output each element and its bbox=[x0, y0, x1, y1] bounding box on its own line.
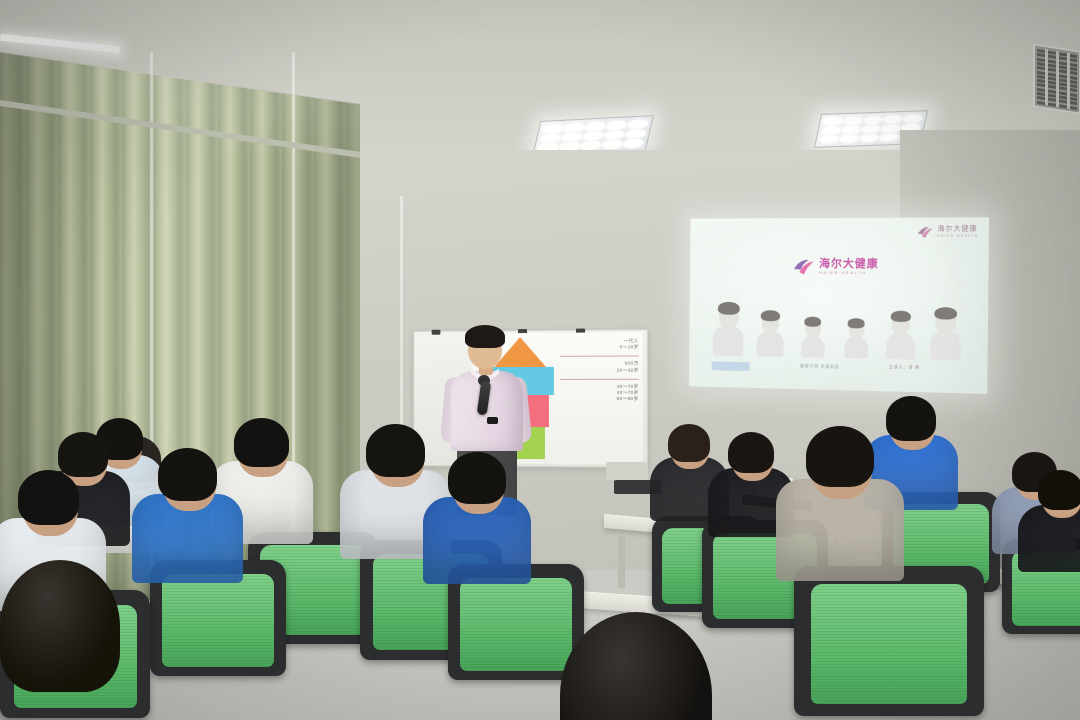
slide-corner-logo-text: 海尔大健康 bbox=[937, 226, 978, 234]
audience-hair bbox=[806, 426, 874, 487]
chair-mesh-back bbox=[811, 584, 967, 704]
slide-family-senior-man bbox=[928, 309, 963, 361]
audience-hair bbox=[1038, 470, 1080, 510]
audience-hair bbox=[158, 448, 217, 501]
slide-family-photo bbox=[712, 283, 964, 360]
audience-hair bbox=[0, 560, 120, 692]
slide-center-logo-text: 海尔大健康 bbox=[819, 258, 879, 270]
poster-label-column: 一代人 0～18岁 900万 25～39岁 40～70岁 40～70岁 60～8… bbox=[560, 338, 639, 406]
audience-far-right bbox=[806, 426, 923, 585]
brand-bird-icon bbox=[793, 258, 815, 276]
slide-family-adult-man bbox=[712, 304, 745, 356]
slide-corner-logo: 海尔大健康 HAIER HEALTH bbox=[917, 226, 979, 239]
slide-corner-logo-subtext: HAIER HEALTH bbox=[937, 234, 978, 239]
strip-light bbox=[0, 34, 120, 54]
poster-row: 40～70岁 40～70岁 60～80岁 bbox=[560, 384, 639, 403]
audience-foreground-head bbox=[1038, 470, 1080, 575]
poster-divider bbox=[560, 356, 639, 357]
air-conditioning-vent-icon bbox=[1033, 43, 1080, 115]
poster-divider bbox=[560, 379, 639, 380]
audience-hair bbox=[668, 424, 710, 462]
mesh-back-office-chair[interactable] bbox=[794, 566, 984, 716]
audience-hair bbox=[366, 424, 425, 477]
poster-row: 900万 25～39岁 bbox=[560, 361, 639, 380]
poster-row: 一代人 0～18岁 bbox=[560, 338, 639, 357]
slide-caption-right: 主讲人：讲 师 bbox=[871, 364, 938, 371]
poster-row-line2: 25～39岁 bbox=[560, 367, 639, 374]
slide-family-child-boy bbox=[796, 319, 830, 358]
wall-corner-edge bbox=[400, 196, 403, 456]
poster-row-line3: 60～80岁 bbox=[560, 396, 639, 402]
poster-row-line2: 0～18岁 bbox=[560, 345, 639, 352]
slide-footer-button bbox=[712, 361, 750, 371]
presenter-hair bbox=[465, 325, 505, 348]
presenter-wristwatch bbox=[487, 417, 498, 424]
slide-center-logo: 海尔大健康 HAIER HEALTH bbox=[793, 258, 879, 276]
audience-hair bbox=[18, 470, 79, 525]
chair-mesh-back bbox=[460, 578, 572, 671]
chair-mesh-back bbox=[162, 574, 274, 667]
brand-bird-icon bbox=[917, 226, 933, 239]
slide-family-senior-woman bbox=[883, 312, 918, 359]
equipment-box bbox=[606, 462, 648, 480]
projection-screen: 海尔大健康 HAIER HEALTH 海尔大健康 HAIER HEALTH 健康… bbox=[689, 217, 989, 394]
desk-leg bbox=[618, 536, 625, 588]
slide-family-child-girl bbox=[839, 320, 873, 358]
whiteboard-magnet bbox=[432, 330, 441, 335]
slide-caption-mid: 健康中国 幸福家庭 bbox=[784, 363, 855, 370]
audience-blue-uniform-left bbox=[448, 452, 547, 587]
audience-hair bbox=[448, 452, 506, 504]
slide-center-logo-subtext: HAIER HEALTH bbox=[819, 270, 879, 276]
audience-hair bbox=[728, 432, 774, 473]
slide-family-adult-woman bbox=[754, 312, 787, 357]
audience-blue-polo bbox=[158, 448, 259, 586]
seminar-photo: 海尔大健康 HAIER HEALTH 海尔大健康 HAIER HEALTH 健康… bbox=[0, 0, 1080, 720]
